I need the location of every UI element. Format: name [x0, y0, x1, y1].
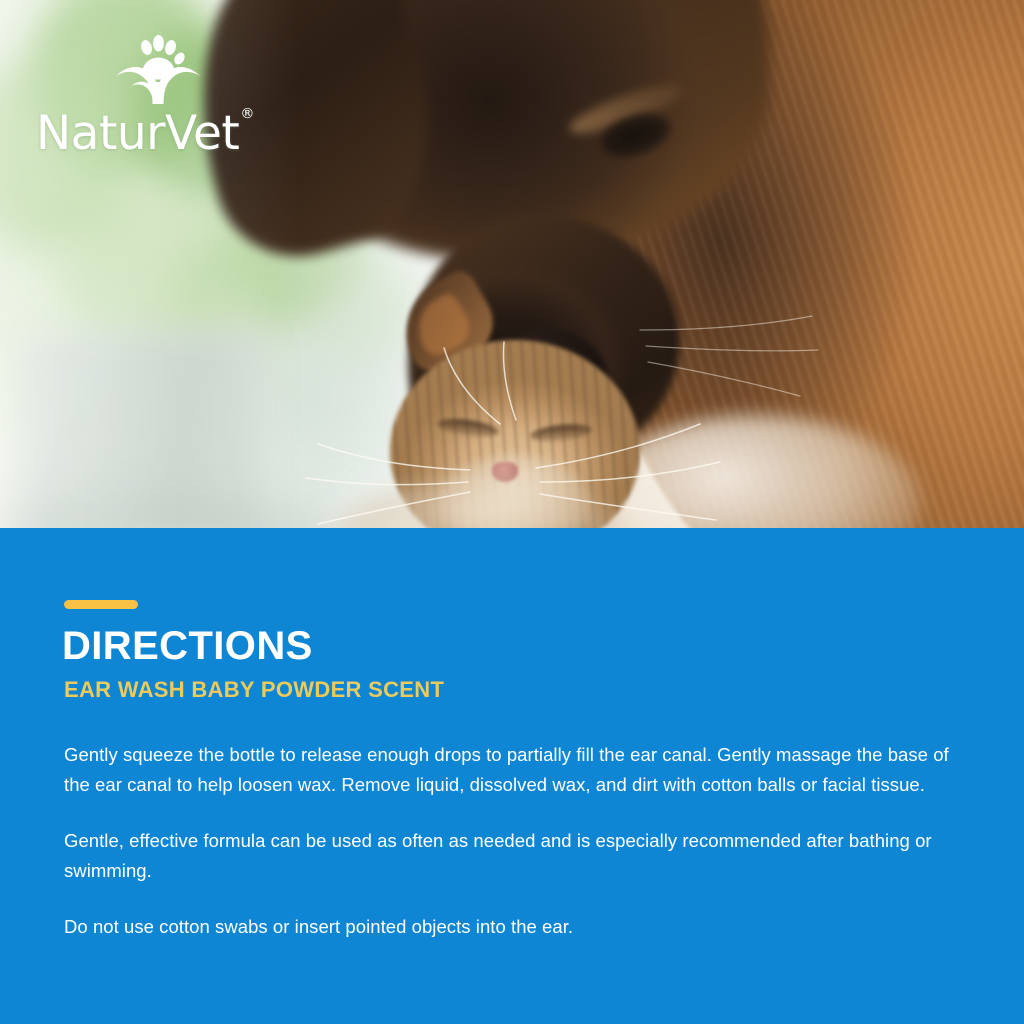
paw-and-grass-icon [114, 34, 202, 112]
registered-trademark-icon: ® [240, 106, 254, 122]
directions-body: Gently squeeze the bottle to release eno… [64, 740, 959, 942]
foliage-bokeh [300, 250, 420, 360]
directions-panel: DIRECTIONS EAR WASH BABY POWDER SCENT Ge… [0, 528, 1024, 1024]
surface-shadow [0, 480, 330, 528]
accent-bar [64, 600, 138, 609]
directions-paragraph: Gentle, effective formula can be used as… [64, 826, 959, 886]
product-subtitle: EAR WASH BABY POWDER SCENT [64, 678, 444, 702]
directions-paragraph: Do not use cotton swabs or insert pointe… [64, 912, 959, 942]
directions-paragraph: Gently squeeze the bottle to release eno… [64, 740, 959, 800]
hero-photo: NaturVet® [0, 0, 1024, 528]
product-directions-page: NaturVet® DIRECTIONS EAR WASH BABY POWDE… [0, 0, 1024, 1024]
page-title: DIRECTIONS [62, 624, 313, 668]
cat-nose [492, 462, 518, 482]
brand-name: NaturVet [36, 106, 239, 161]
naturvet-wordmark: NaturVet® [36, 110, 276, 157]
naturvet-logo[interactable]: NaturVet® [36, 34, 276, 157]
